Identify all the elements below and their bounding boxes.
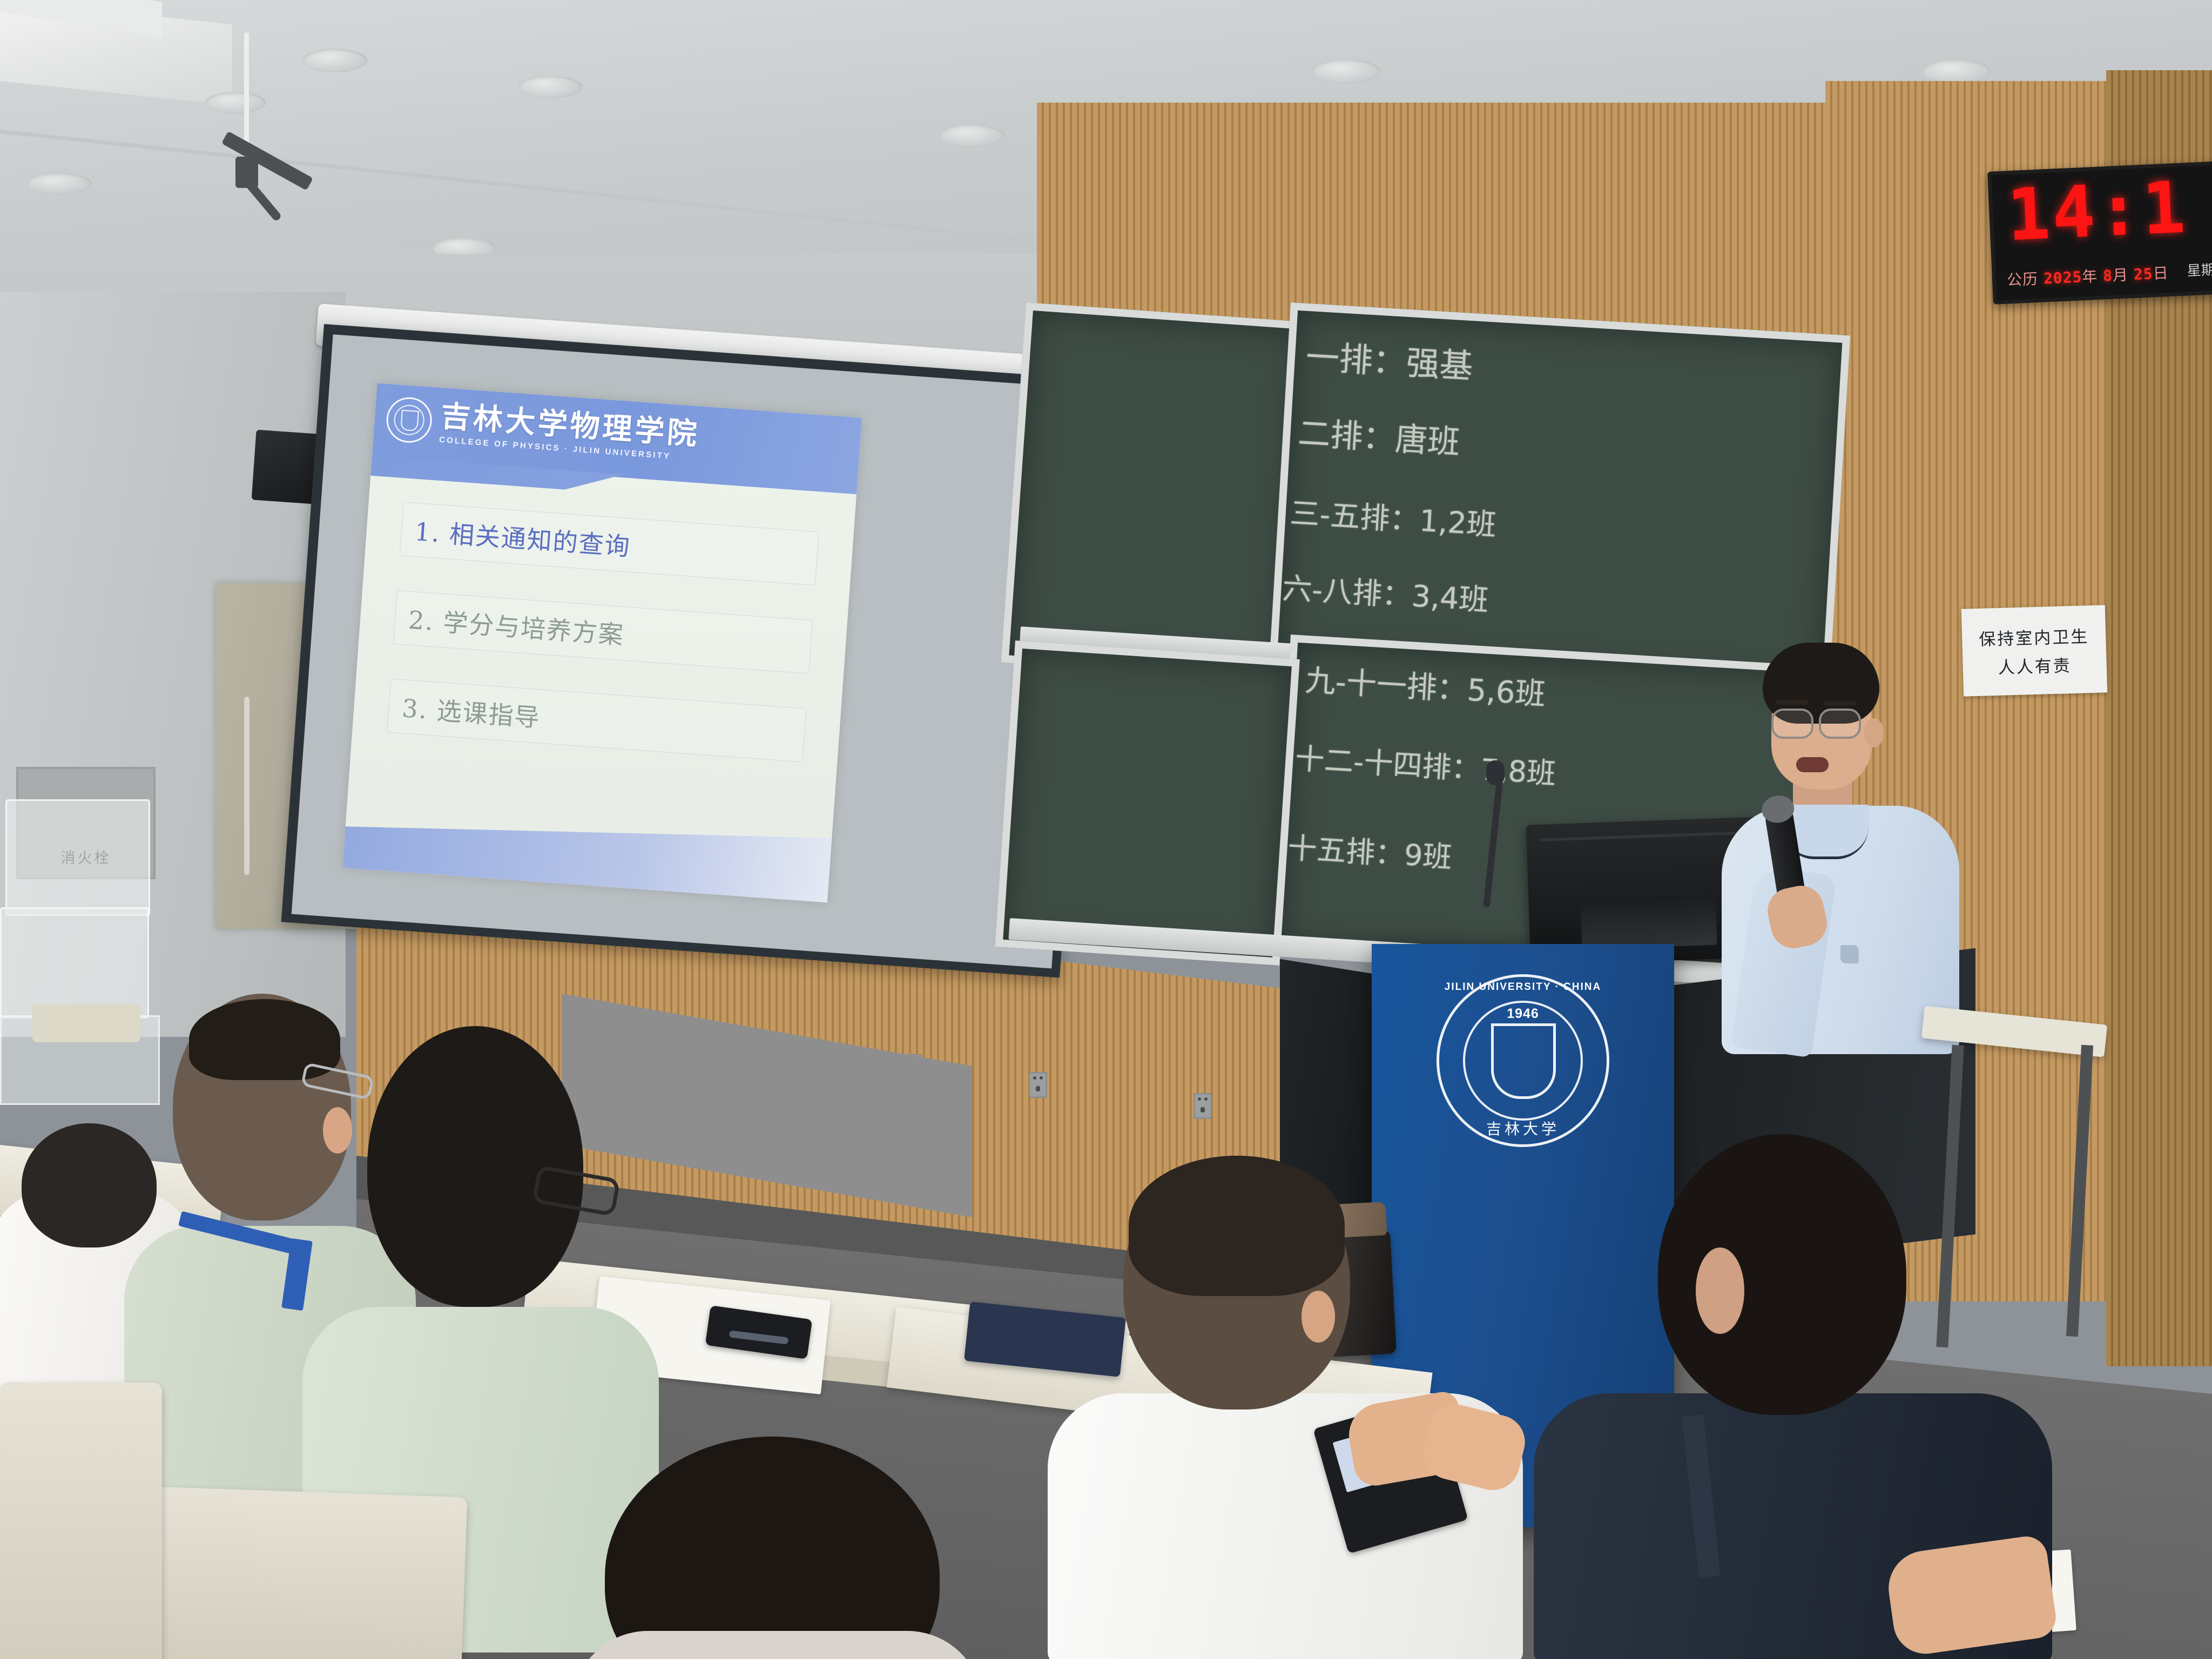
presenter-ear	[1864, 718, 1884, 747]
student-face-edge	[1696, 1247, 1744, 1334]
shirt-logo-icon	[1840, 945, 1859, 963]
microphone-head-icon	[1760, 793, 1796, 825]
student-ear	[1301, 1291, 1335, 1343]
agenda-text: 2. 学分与培养方案	[407, 601, 799, 664]
ceiling-downlight	[1312, 59, 1380, 83]
student-shirt	[572, 1631, 983, 1659]
emblem-arc-text: JILIN UNIVERSITY · CHINA	[1439, 981, 1607, 993]
slide-agenda-list: 1. 相关通知的查询 2. 学分与培养方案 3. 选课指导	[352, 460, 857, 765]
blackboard-panel-left-lower	[995, 640, 1299, 966]
clock-day: 25	[2133, 265, 2153, 284]
notice-line-1: 保持室内卫生	[1979, 623, 2089, 650]
ceiling-downlight	[302, 49, 367, 72]
student-hair	[1129, 1156, 1345, 1296]
clock-year-unit: 年	[2082, 267, 2098, 286]
agenda-text: 3. 选课指导	[401, 689, 792, 752]
lecture-hall-photo: 消火栓 吉林大学物理学院 COLLEGE OF PHYSICS · JILIN …	[0, 0, 2212, 1659]
ceiling-downlight	[205, 92, 266, 113]
blackboard-upper: 一排：强基 二排：唐班 三-五排：1,2班 六-八排：3,4班	[1269, 302, 1850, 696]
chalk-line: 三-五排：1,2班	[1289, 489, 1498, 544]
slide-agenda-item-1: 1. 相关通知的查询	[400, 502, 819, 585]
seat-back	[0, 1382, 162, 1659]
screen-surface: 吉林大学物理学院 COLLEGE OF PHYSICS · JILIN UNIV…	[292, 334, 1093, 968]
chalk-line: 九-十一排：5,6班	[1304, 656, 1547, 714]
notice-line-2: 人人有责	[1998, 652, 2072, 678]
clock-month: 8	[2103, 267, 2113, 285]
jlu-seal-icon	[385, 396, 434, 444]
chalk-line: 十五排：9班	[1287, 824, 1454, 876]
chalk-line: 六-八排：3,4班	[1282, 564, 1490, 619]
student-head	[1658, 1134, 1906, 1415]
ceiling-downlight	[518, 76, 582, 98]
door-handle[interactable]	[244, 697, 249, 875]
ceiling-downlight	[27, 173, 92, 194]
slide-footer-band	[342, 803, 832, 902]
clock-month-unit: 月	[2112, 266, 2128, 284]
student-head	[605, 1437, 940, 1659]
presenter	[1717, 643, 1966, 1053]
student-head	[367, 1026, 583, 1307]
presentation-slide: 吉林大学物理学院 COLLEGE OF PHYSICS · JILIN UNIV…	[342, 383, 862, 902]
student-right	[1534, 1134, 2052, 1659]
power-outlet[interactable]	[1193, 1093, 1212, 1119]
chalk-line: 二排：唐班	[1297, 407, 1461, 463]
ceiling-downlight	[1923, 59, 1991, 83]
digital-wall-clock: 14:1 公历 2025年 8月 25日 星期	[1987, 161, 2212, 304]
blackboard-panel-left	[1001, 302, 1310, 682]
agenda-text: 1. 相关通知的查询	[414, 512, 805, 575]
clock-date-prefix: 公历	[2006, 270, 2038, 289]
clock-weekday-label: 星期	[2187, 259, 2212, 280]
student-center-front	[540, 1437, 1026, 1659]
presenter-mouth	[1796, 757, 1829, 772]
chalk-line: 十二-十四排：7,8班	[1294, 734, 1557, 793]
data-outlet[interactable]	[1029, 1072, 1047, 1098]
projector-screen: 吉林大学物理学院 COLLEGE OF PHYSICS · JILIN UNIV…	[281, 324, 1103, 977]
student-phone	[1048, 1156, 1523, 1659]
emblem-year: 1946	[1439, 1006, 1607, 1022]
clock-time: 14:1	[2006, 172, 2189, 251]
wall-notice-sign: 保持室内卫生 人人有责	[1961, 605, 2107, 696]
slide-agenda-item-2: 2. 学分与培养方案	[393, 590, 813, 674]
presenter-brow	[1776, 700, 1809, 705]
clock-day-unit: 日	[2153, 264, 2169, 282]
clock-year: 2025	[2043, 268, 2082, 287]
clock-date: 公历 2025年 8月 25日	[2006, 261, 2169, 291]
microphone-capsule-icon	[1486, 760, 1505, 785]
presenter-brow	[1823, 701, 1857, 706]
glasses-icon	[1819, 709, 1861, 739]
slide-agenda-item-3: 3. 选课指导	[387, 679, 806, 763]
laptop[interactable]	[1580, 895, 1717, 950]
ceiling-downlight	[940, 124, 1004, 147]
storage-bin	[5, 799, 150, 916]
chalk-line: 一排：强基	[1305, 329, 1475, 388]
jlu-emblem-icon: JILIN UNIVERSITY · CHINA 1946 吉林大学	[1437, 974, 1609, 1147]
glasses-icon	[1771, 709, 1813, 739]
